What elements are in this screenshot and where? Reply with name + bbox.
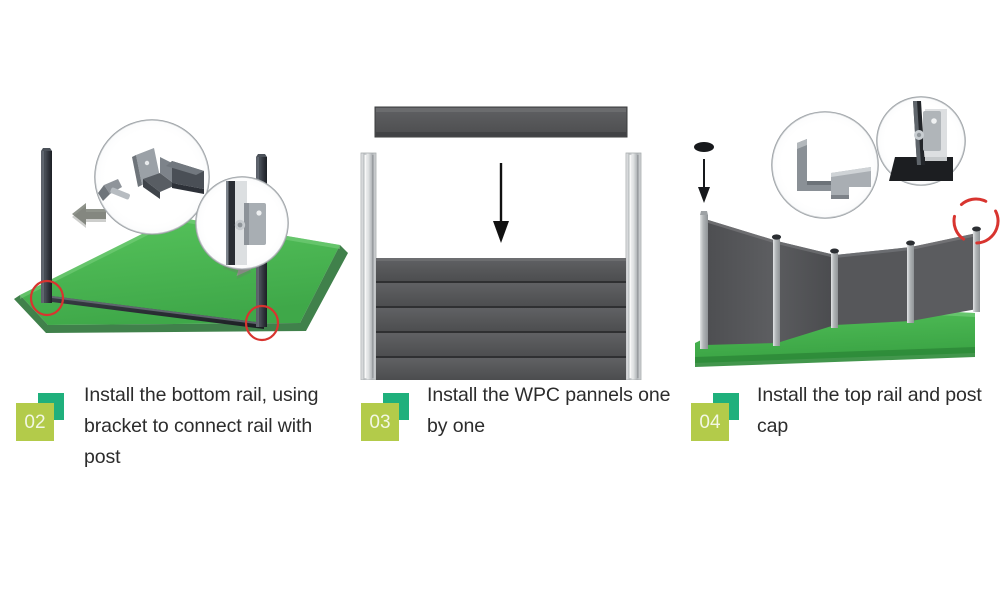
caption-04: 04 Install the top rail and post cap xyxy=(685,380,1000,442)
callout-post-screw-detail xyxy=(877,97,965,185)
post-channel-right xyxy=(626,153,641,380)
fence-post-left xyxy=(41,148,52,303)
illustration-top-rail-post-cap xyxy=(685,95,1000,380)
fence-panel-1 xyxy=(705,219,777,345)
panel-row xyxy=(376,358,626,380)
caption-03: 03 Install the WPC pannels one by one xyxy=(355,380,685,442)
step-description-03: Install the WPC pannels one by one xyxy=(427,380,685,442)
infographic-page: 02 Install the bottom rail, using bracke… xyxy=(0,0,1000,600)
panel-row xyxy=(376,333,626,357)
badge-number-text: 04 xyxy=(691,403,729,441)
step-badge-03: 03 xyxy=(361,393,401,435)
fence-panel-3 xyxy=(835,247,911,325)
post-cap-drop-indicator xyxy=(694,142,714,203)
fence-post-2 xyxy=(772,234,781,346)
top-rail-post-cap-svg xyxy=(685,95,1000,380)
stacked-wpc-panels xyxy=(376,258,626,380)
floating-wpc-panel xyxy=(375,107,627,137)
wpc-panels-svg xyxy=(355,95,685,380)
post-cap-icon xyxy=(694,142,714,152)
step-badge-02: 02 xyxy=(16,393,56,435)
post-cap xyxy=(972,227,981,232)
step-badge-04: 04 xyxy=(691,393,731,435)
step-description-02: Install the bottom rail, using bracket t… xyxy=(84,380,346,473)
steps-container: 02 Install the bottom rail, using bracke… xyxy=(0,0,1000,600)
step-card-03: 03 Install the WPC pannels one by one xyxy=(355,95,685,442)
step-description-04: Install the top rail and post cap xyxy=(757,380,1000,442)
badge-number-text: 03 xyxy=(361,403,399,441)
callout-post-bracket-bolt xyxy=(196,177,288,269)
panel-row xyxy=(376,258,626,282)
fence-post-4 xyxy=(906,241,915,324)
step-card-04: 04 Install the top rail and post cap xyxy=(685,95,1000,442)
illustration-bottom-rail xyxy=(0,95,350,380)
panel-row xyxy=(376,308,626,332)
fence-post-5 xyxy=(972,227,981,313)
step-card-02: 02 Install the bottom rail, using bracke… xyxy=(0,95,350,473)
callout-top-rail-profile xyxy=(772,112,878,218)
post-channel-left xyxy=(361,153,376,380)
fence-panel-4 xyxy=(911,233,977,321)
pointer-arrow-left xyxy=(72,203,106,228)
illustration-wpc-panels xyxy=(355,95,685,380)
post-cap xyxy=(830,249,839,254)
panel-row xyxy=(376,283,626,307)
callout-bracket-hammer xyxy=(95,120,209,234)
insertion-arrow-down xyxy=(493,163,509,243)
fence-post-3 xyxy=(830,249,839,329)
post-cap xyxy=(906,241,915,246)
bottom-rail-svg xyxy=(0,95,350,380)
fence-post-1 xyxy=(700,211,708,349)
caption-02: 02 Install the bottom rail, using bracke… xyxy=(0,380,350,473)
post-cap xyxy=(772,234,781,239)
badge-number-text: 02 xyxy=(16,403,54,441)
